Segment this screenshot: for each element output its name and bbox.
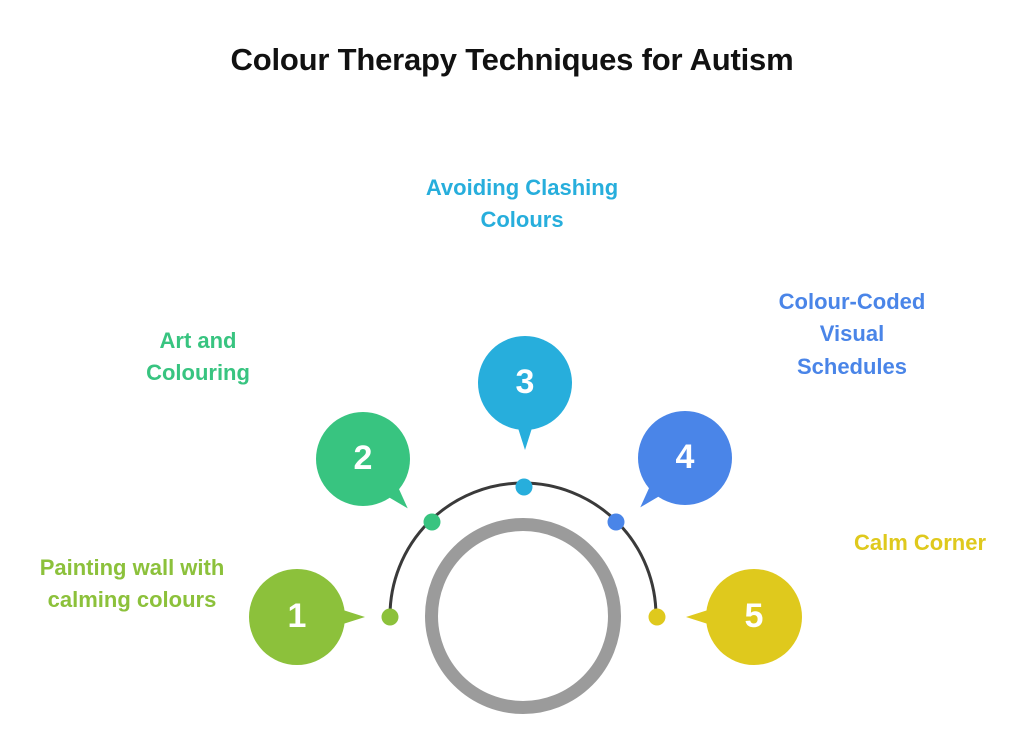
step-number-1: 1 — [288, 599, 307, 633]
step-dots — [382, 479, 666, 626]
step-number-2: 2 — [354, 441, 373, 475]
step-label-3: Avoiding Clashing Colours — [390, 172, 654, 237]
step-bubble-tail-5 — [686, 610, 708, 624]
step-dot-2 — [424, 514, 441, 531]
central-ring — [432, 525, 615, 708]
step-number-3: 3 — [516, 365, 535, 399]
step-bubble-1[interactable]: 1 — [249, 569, 345, 665]
step-label-4: Colour-Coded Visual Schedules — [752, 286, 952, 383]
step-dot-3 — [516, 479, 533, 496]
central-ring-stroke — [432, 525, 615, 708]
infographic-canvas: Colour Therapy Techniques for Autism 123… — [0, 0, 1024, 756]
step-number-4: 4 — [676, 440, 695, 474]
step-label-2: Art and Colouring — [110, 325, 286, 390]
step-dot-4 — [608, 514, 625, 531]
step-bubble-2[interactable]: 2 — [316, 412, 410, 506]
step-bubble-5[interactable]: 5 — [706, 569, 802, 665]
step-bubble-tail-1 — [343, 610, 365, 624]
step-dot-1 — [382, 609, 399, 626]
step-bubble-4[interactable]: 4 — [638, 411, 732, 505]
step-dot-5 — [649, 609, 666, 626]
step-label-5: Calm Corner — [822, 527, 1018, 559]
step-label-1: Painting wall with calming colours — [8, 552, 256, 617]
step-bubble-3[interactable]: 3 — [478, 336, 572, 430]
step-number-5: 5 — [745, 599, 764, 633]
step-bubble-tail-3 — [518, 428, 532, 450]
